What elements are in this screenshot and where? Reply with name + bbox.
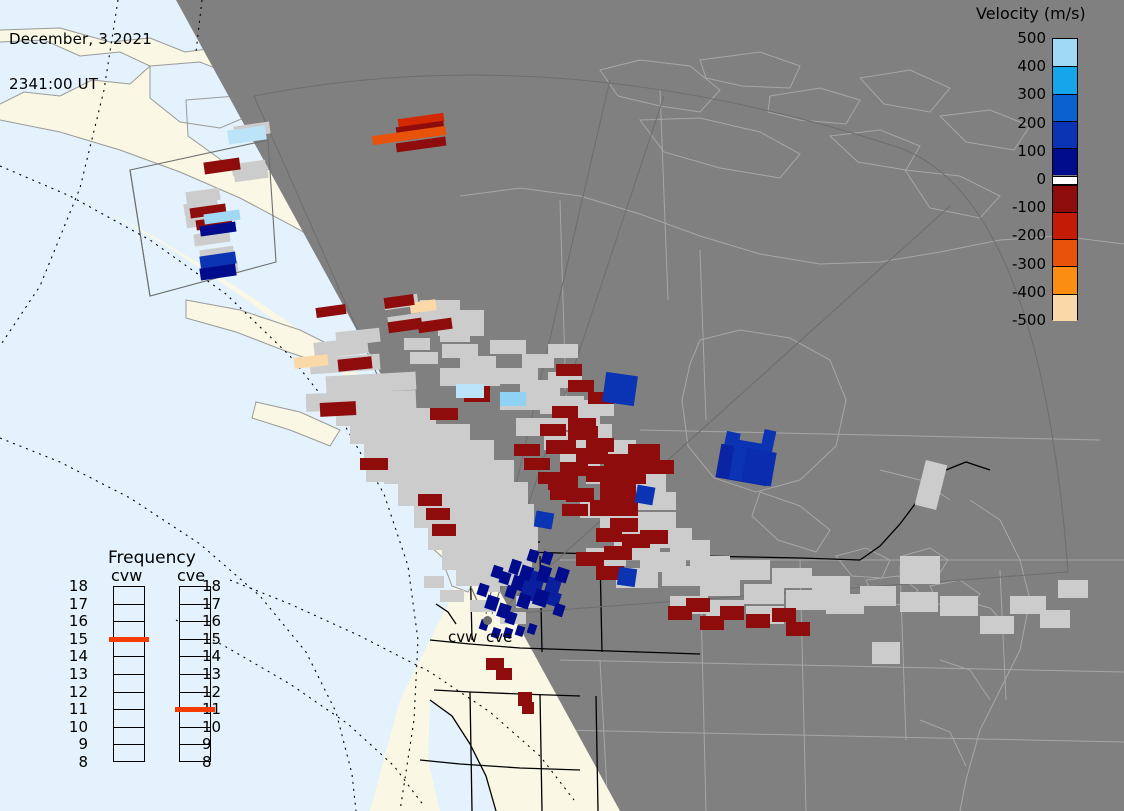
frequency-marker-cvw <box>109 637 149 642</box>
frequency-scale-label: 12 <box>202 683 226 701</box>
frequency-scale-label: 18 <box>64 577 88 595</box>
frequency-scale-label: 18 <box>202 577 226 595</box>
frequency-scale-label: 16 <box>202 612 226 630</box>
radar-velocity-map-page: December, 3 2021 2341:00 UT cvw cve Velo… <box>0 0 1124 811</box>
frequency-bar-cell <box>114 605 144 623</box>
frequency-scale-label: 17 <box>64 595 88 613</box>
frequency-bar-cell <box>114 693 144 711</box>
frequency-bar-cvw <box>113 586 145 762</box>
frequency-bar-cell <box>114 728 144 746</box>
frequency-bar-cell <box>114 675 144 693</box>
frequency-bar-cell <box>114 587 144 605</box>
frequency-scale-label: 12 <box>64 683 88 701</box>
frequency-bar-cell <box>114 657 144 675</box>
frequency-bar-cell <box>114 640 144 658</box>
frequency-scale-label: 15 <box>202 630 226 648</box>
frequency-scale-label: 17 <box>202 595 226 613</box>
frequency-scale-label: 13 <box>202 665 226 683</box>
frequency-column-header: cve <box>177 566 205 585</box>
frequency-scale-label: 8 <box>202 753 226 771</box>
frequency-bar-cell <box>114 745 144 763</box>
frequency-scale-label: 8 <box>64 753 88 771</box>
frequency-scale-label: 14 <box>64 647 88 665</box>
frequency-scale-label: 13 <box>64 665 88 683</box>
frequency-column-header: cvw <box>111 566 142 585</box>
frequency-scale-label: 11 <box>64 700 88 718</box>
frequency-scale-label: 10 <box>64 718 88 736</box>
frequency-scale-label: 9 <box>64 735 88 753</box>
frequency-bar-cell <box>114 710 144 728</box>
frequency-scale-label: 16 <box>64 612 88 630</box>
frequency-marker-cve <box>175 707 215 712</box>
frequency-scale-label: 9 <box>202 735 226 753</box>
frequency-scale-label: 10 <box>202 718 226 736</box>
frequency-scale-label: 15 <box>64 630 88 648</box>
frequency-legend-body: cvw18171615141312111098cve18171615141312… <box>0 0 1124 811</box>
frequency-scale-label: 14 <box>202 647 226 665</box>
